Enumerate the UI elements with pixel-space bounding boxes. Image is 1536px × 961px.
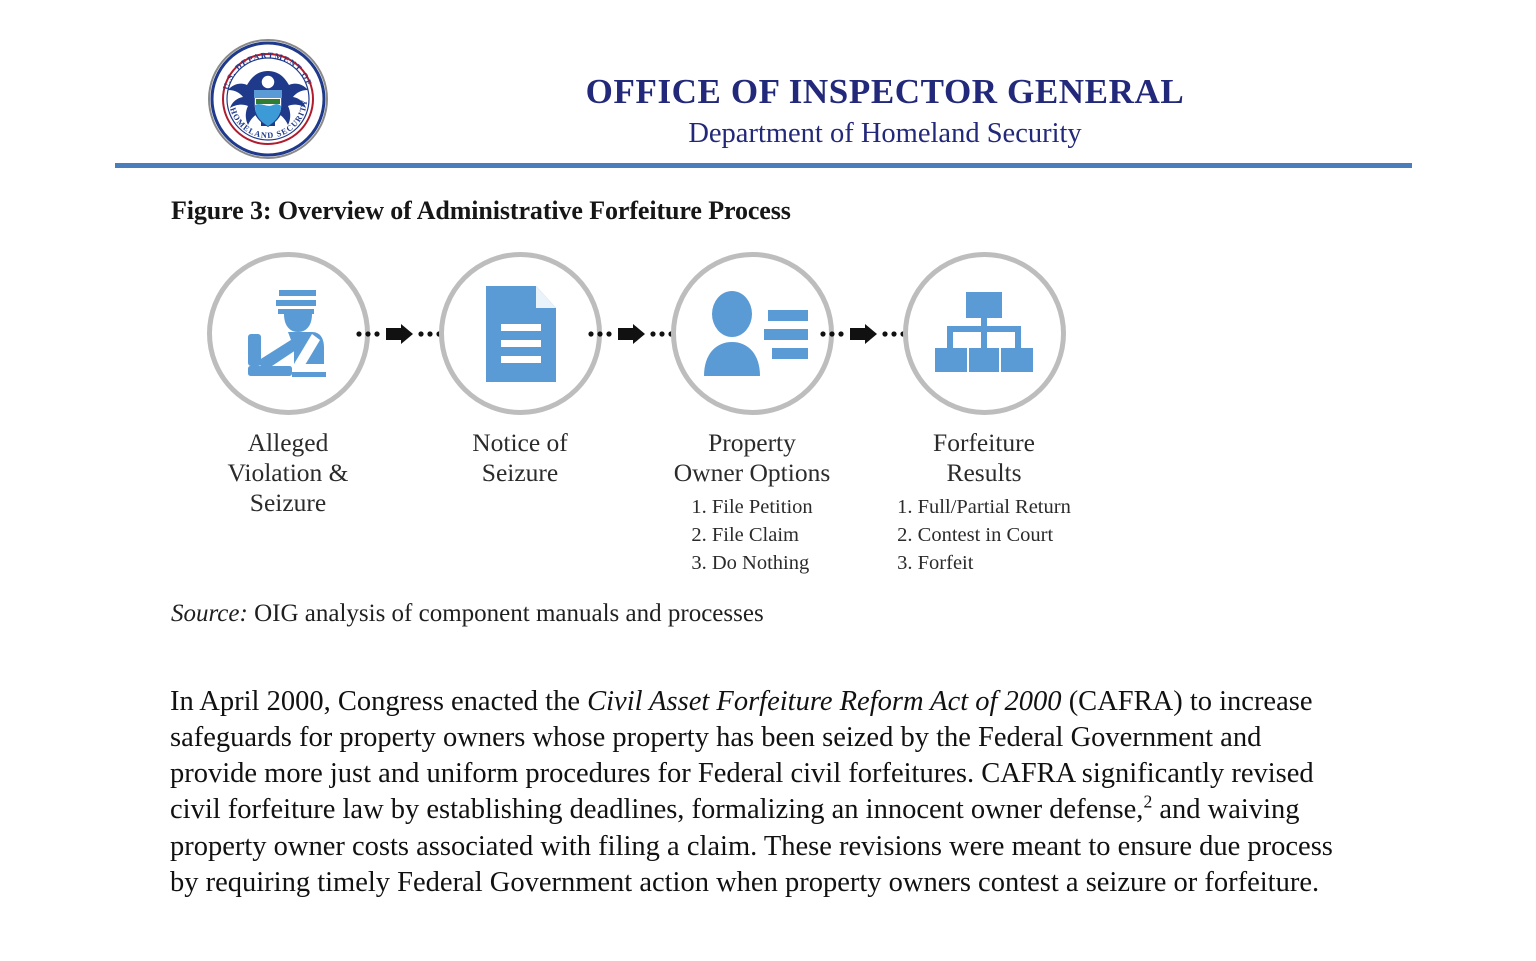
step-results-list: 1. Full/Partial Return 2. Contest in Cou… [897,494,1071,578]
list-item: 1. File Petition [691,494,812,522]
source-text: OIG analysis of component manuals and pr… [248,600,764,627]
process-diagram: Alleged Violation & Seizure Notice of Se… [171,252,1171,592]
step-label-line: Forfeiture [881,428,1087,458]
list-item: 3. Do Nothing [691,550,812,578]
person-record-icon [694,284,810,384]
process-step-forfeiture-results: Forfeiture Results 1. Full/Partial Retur… [881,252,1087,578]
step-label-line: Owner Options [649,458,855,488]
footnote-marker: 2 [1143,792,1152,812]
step-label-line: Seizure [185,488,391,518]
step-label: Forfeiture Results [881,428,1087,488]
body-paragraph: In April 2000, Congress enacted the Civi… [170,684,1340,902]
source-label: Source: [171,600,248,627]
officer-seizure-icon [232,278,344,390]
list-item: 3. Forfeit [897,550,1071,578]
step-label-line: Notice of [417,428,623,458]
step-label: Property Owner Options [649,428,855,488]
step-label: Alleged Violation & Seizure [185,428,391,518]
step-label-line: Property [649,428,855,458]
hierarchy-chart-icon [929,284,1039,384]
list-item: 1. Full/Partial Return [897,494,1071,522]
step-options-list: 1. File Petition 2. File Claim 3. Do Not… [691,494,812,578]
figure-source: Source: OIG analysis of component manual… [171,600,764,628]
process-step-notice-of-seizure: Notice of Seizure [417,252,623,488]
act-title: Civil Asset Forfeiture Reform Act of 200… [587,686,1061,717]
step-label-line: Alleged [185,428,391,458]
step-circle [439,252,602,415]
step-label-line: Results [881,458,1087,488]
step-circle [671,252,834,415]
step-circle [903,252,1066,415]
dhs-seal-icon: U.S. DEPARTMENT OF HOMELAND SECURITY [207,38,329,160]
step-label-line: Seizure [417,458,623,488]
paragraph-part-1: In April 2000, Congress enacted the [170,686,587,717]
process-step-alleged-violation-seizure: Alleged Violation & Seizure [185,252,391,518]
header-divider [115,163,1412,168]
figure-title: Figure 3: Overview of Administrative For… [171,196,791,226]
document-icon [468,278,572,390]
list-item: 2. Contest in Court [897,522,1071,550]
list-item: 2. File Claim [691,522,812,550]
page-header: U.S. DEPARTMENT OF HOMELAND SECURITY OFF… [0,0,1536,150]
oig-title: OFFICE OF INSPECTOR GENERAL [360,74,1410,111]
process-step-property-owner-options: Property Owner Options 1. File Petition … [649,252,855,578]
dhs-subtitle: Department of Homeland Security [360,115,1410,152]
step-label-line: Violation & [185,458,391,488]
step-label: Notice of Seizure [417,428,623,488]
header-titles: OFFICE OF INSPECTOR GENERAL Department o… [360,74,1410,152]
step-circle [207,252,370,415]
